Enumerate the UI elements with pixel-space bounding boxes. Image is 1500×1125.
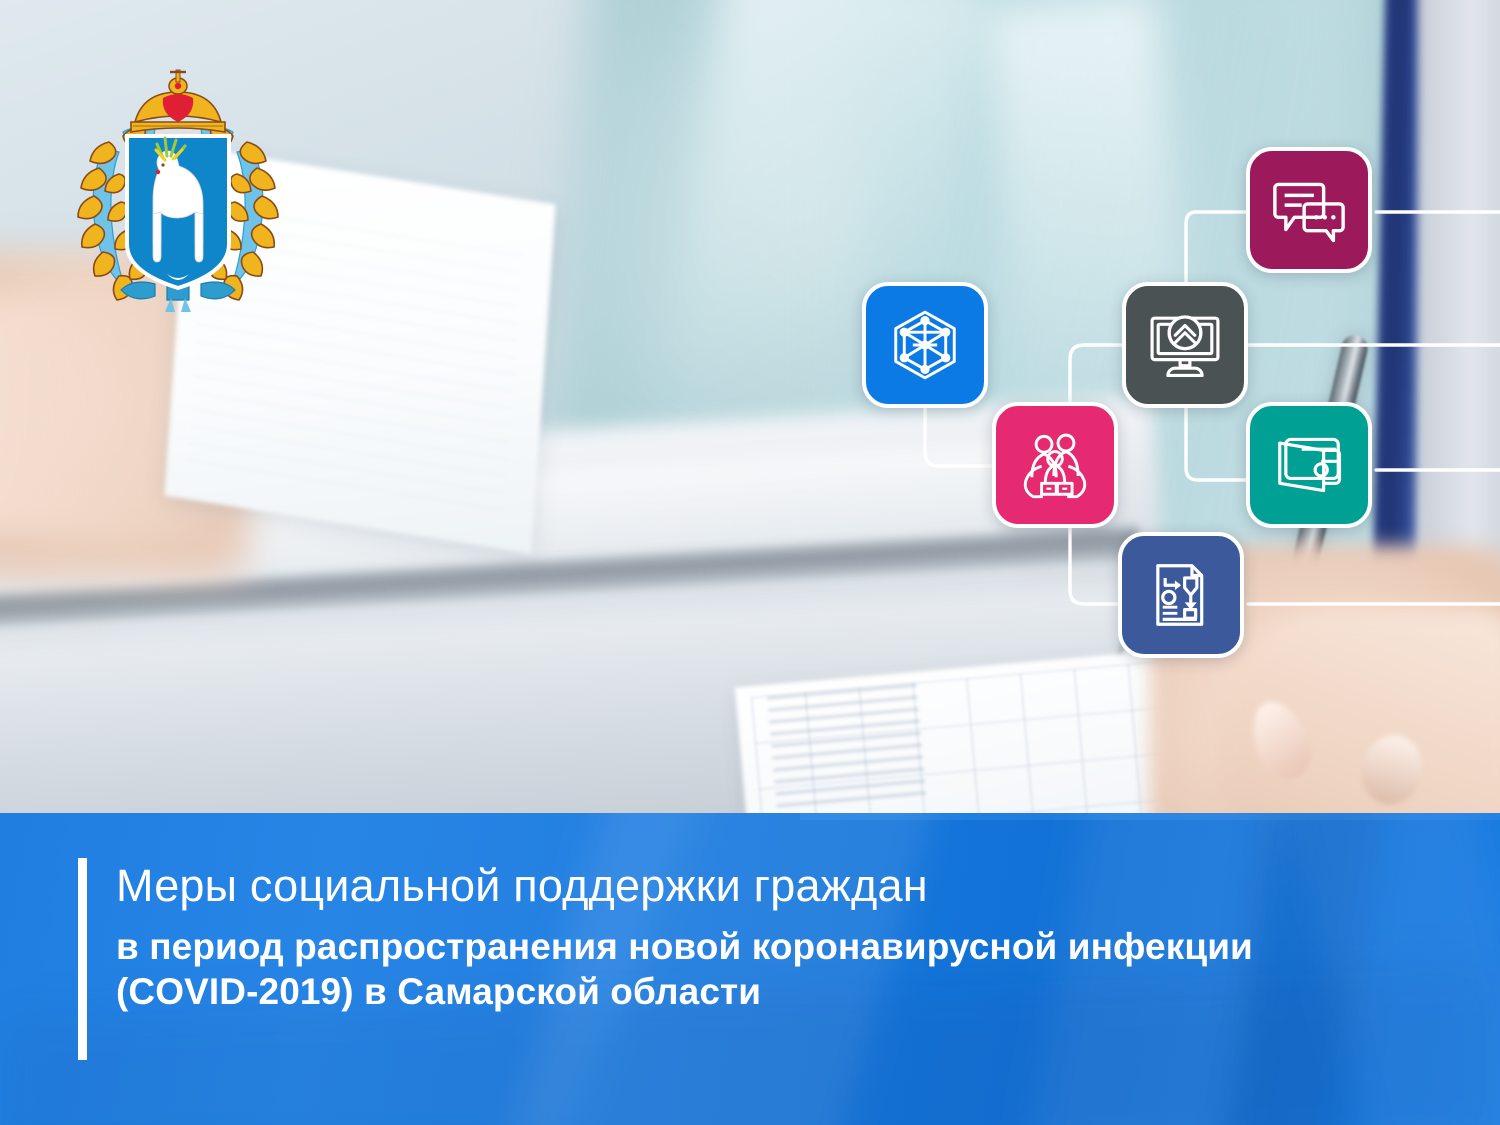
page-subtitle-line-1: в период распространения новой коронавир… — [116, 924, 1416, 969]
page-subtitle-line-2: (COVID-2019) в Самарской области — [116, 969, 1416, 1014]
photo-form-text — [767, 684, 927, 817]
tile-monitor[interactable] — [1122, 282, 1248, 408]
tile-family-care[interactable] — [992, 402, 1118, 528]
title-accent-bar — [78, 858, 87, 1060]
network-icon — [886, 306, 964, 384]
chat-icon — [1270, 171, 1348, 249]
tile-document-flow[interactable] — [1118, 532, 1244, 658]
tile-network[interactable] — [862, 282, 988, 408]
slide-root: Меры социальной поддержки граждан в пери… — [0, 0, 1500, 1125]
monitor-upgrade-icon — [1146, 306, 1224, 384]
title-block: Меры социальной поддержки граждан в пери… — [116, 862, 1416, 1014]
tile-wallet[interactable] — [1246, 402, 1372, 528]
page-title: Меры социальной поддержки граждан — [116, 862, 1416, 910]
samara-oblast-coat-of-arms — [63, 62, 293, 312]
family-care-icon — [1016, 426, 1094, 504]
document-flow-icon — [1142, 556, 1220, 634]
tile-chat[interactable] — [1246, 147, 1372, 273]
wallet-icon — [1270, 426, 1348, 504]
